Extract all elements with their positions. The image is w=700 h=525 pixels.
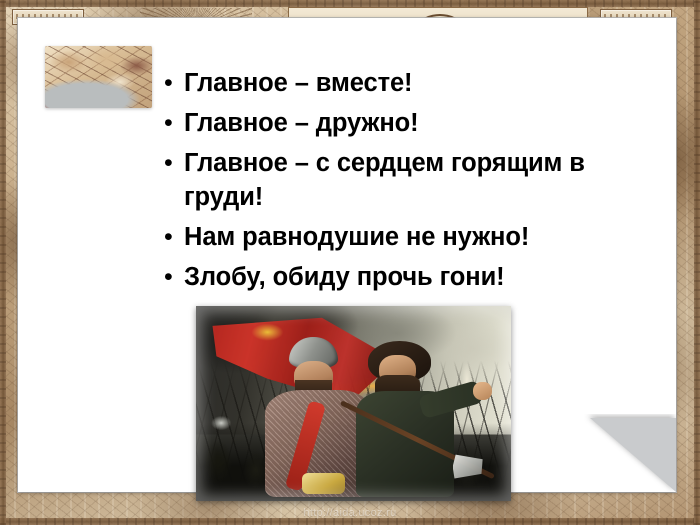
frame-rail-bottom bbox=[0, 518, 700, 525]
list-item: • Нам равнодушие не нужно! bbox=[164, 220, 664, 254]
page-curl-cut bbox=[584, 414, 676, 492]
minin-and-pozharsky-painting bbox=[196, 306, 511, 501]
list-item-label: Нам равнодушие не нужно! bbox=[184, 220, 664, 254]
bullet-dot-icon: • bbox=[164, 106, 184, 140]
list-item: • Злобу, обиду прочь гони! bbox=[164, 260, 664, 294]
list-item-label: Главное – с сердцем горящим в груди! bbox=[184, 146, 664, 214]
bullet-dot-icon: • bbox=[164, 220, 184, 254]
list-item-label: Главное – дружно! bbox=[184, 106, 664, 140]
slide-page: • Главное – вместе! • Главное – дружно! … bbox=[18, 18, 676, 492]
old-map-illustration-icon bbox=[45, 46, 152, 108]
list-item-label: Главное – вместе! bbox=[184, 66, 664, 100]
frame-rail-right bbox=[694, 0, 700, 525]
list-item: • Главное – с сердцем горящим в груди! bbox=[164, 146, 664, 214]
frame-rail-top bbox=[0, 0, 700, 7]
list-item: • Главное – дружно! bbox=[164, 106, 664, 140]
painting-soft-edge bbox=[196, 306, 511, 501]
list-item-label: Злобу, обиду прочь гони! bbox=[184, 260, 664, 294]
bullet-dot-icon: • bbox=[164, 146, 184, 180]
page-curl-flap bbox=[590, 418, 676, 492]
bullet-dot-icon: • bbox=[164, 260, 184, 294]
bullet-dot-icon: • bbox=[164, 66, 184, 100]
slide-root: • Главное – вместе! • Главное – дружно! … bbox=[0, 0, 700, 525]
frame-rail-left bbox=[0, 0, 6, 525]
page-curl-corner bbox=[584, 414, 676, 492]
bullet-list: • Главное – вместе! • Главное – дружно! … bbox=[164, 66, 664, 300]
list-item: • Главное – вместе! bbox=[164, 66, 664, 100]
